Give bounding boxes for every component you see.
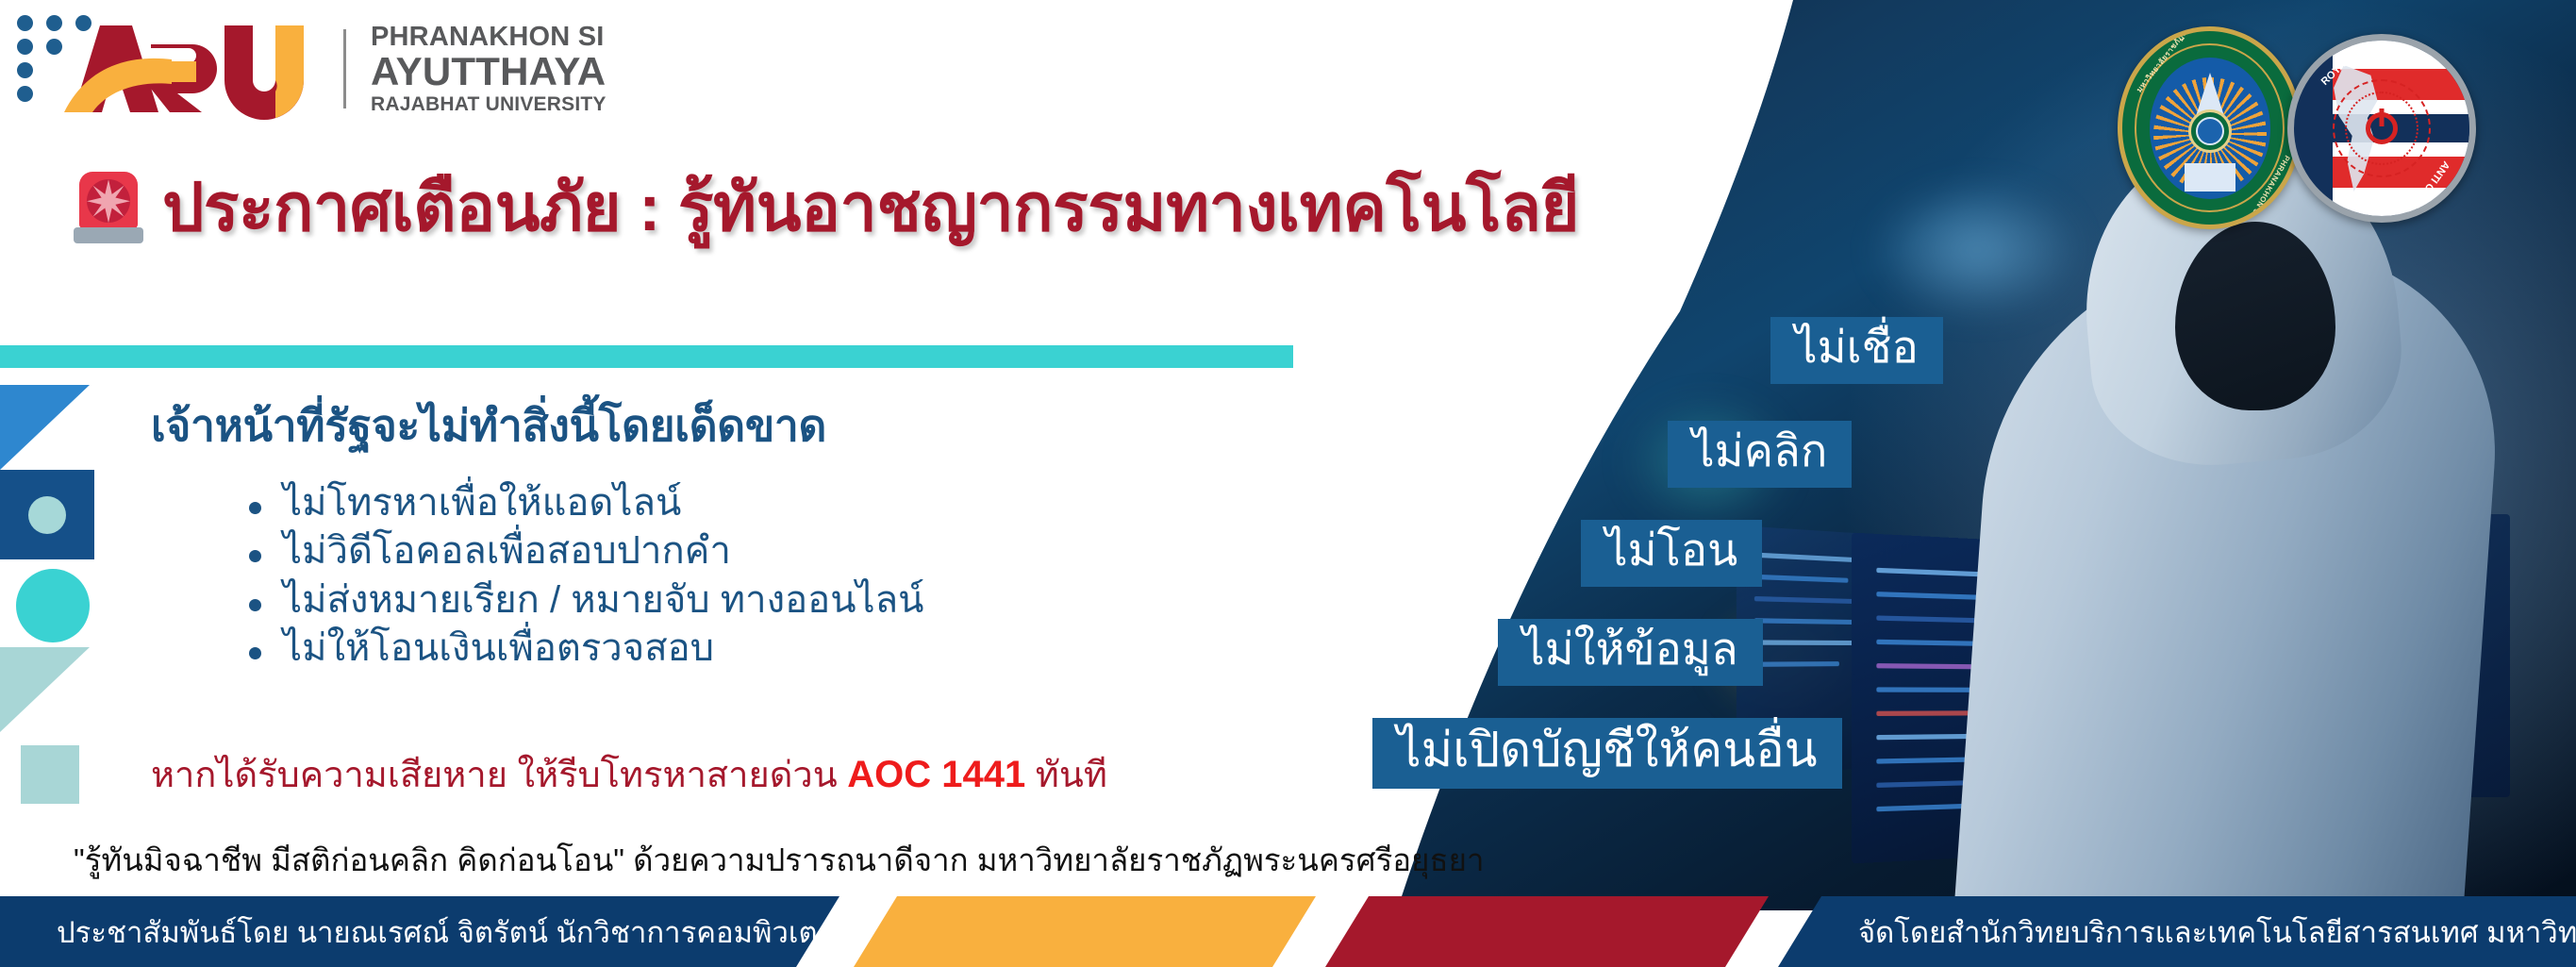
closing-quote: "รู้ทันมิจฉาชีพ มีสติก่อนคลิก คิดก่อนโอน… <box>74 835 1484 885</box>
list-item: ไม่วิดีโอคอลเพื่อสอบปากคำ <box>243 529 924 573</box>
hotline-line: หากได้รับความเสียหาย ให้รีบโทรหาสายด่วน … <box>151 745 1107 803</box>
aru-logo: PHRANAKHON SI AYUTTHAYA RAJABHAT UNIVERS… <box>57 17 607 121</box>
page-title: ประกาศเตือนภัย : รู้ทันอาชญากรรมทางเทคโน… <box>162 175 1579 241</box>
triangle-decoration-light <box>0 647 90 732</box>
hotline-prefix: หากได้รับความเสียหาย ให้รีบโทรหาสายด่วน <box>151 756 847 795</box>
list-item: ไม่โทรหาเพื่อให้แอดไลน์ <box>243 481 924 525</box>
warning-bullet-list: ไม่โทรหาเพื่อให้แอดไลน์ ไม่วิดีโอคอลเพื่… <box>243 481 924 675</box>
logo-divider <box>343 29 346 108</box>
warning-tag-5: ไม่เปิดบัญชีให้คนอื่น <box>1372 718 1842 789</box>
brand-line-1: PHRANAKHON SI <box>371 24 607 51</box>
hotline-number: AOC 1441 <box>847 754 1025 795</box>
footer-segment-red <box>1325 896 1769 967</box>
university-seal-ring-text: มหาวิทยาลัยราชภัฏพระนครศรีอยุธยา PHRANAK… <box>2122 31 2297 225</box>
triangle-decoration-blue <box>0 385 90 470</box>
square-decoration-navy <box>0 470 94 559</box>
headline-block: ประกาศเตือนภัย : รู้ทันอาชญากรรมทางเทคโน… <box>74 172 1579 243</box>
police-seal-ring-text: ROYAL THAI POLICE ANTI CYBER SCAM CENTER <box>2294 41 2469 216</box>
warning-tag-2: ไม่คลิก <box>1668 421 1852 488</box>
warning-poster: PHRANAKHON SI AYUTTHAYA RAJABHAT UNIVERS… <box>0 0 2576 967</box>
square-decoration-light <box>21 745 79 804</box>
aru-logomark-icon <box>57 18 340 120</box>
body-subheading: เจ้าหน้าที่รัฐจะไม่ทำสิ่งนี้โดยเด็ดขาด <box>151 392 826 460</box>
footer-bar: ประชาสัมพันธ์โดย นายณเรศณ์ จิตรัตน์ นักว… <box>0 896 2576 967</box>
footer-segment-orange <box>854 896 1316 967</box>
university-seal-icon: มหาวิทยาลัยราชภัฏพระนครศรีอยุธยา PHRANAK… <box>2118 26 2302 229</box>
brand-line-3: RAJABHAT UNIVERSITY <box>371 94 607 114</box>
footer-credit-right: จัดโดยสำนักวิทยบริการและเทคโนโลยีสารสนเท… <box>1858 896 2576 967</box>
list-item: ไม่ส่งหมายเรียก / หมายจับ ทางออนไลน์ <box>243 578 924 622</box>
police-siren-icon <box>74 172 143 243</box>
circle-decoration-teal <box>16 569 90 642</box>
teal-accent-bar <box>0 345 1293 368</box>
warning-tag-3: ไม่โอน <box>1581 520 1762 587</box>
hotline-suffix: ทันที <box>1025 756 1107 795</box>
warning-tag-1: ไม่เชื่อ <box>1770 317 1943 384</box>
photo-glow <box>1869 179 2086 321</box>
warning-tag-4: ไม่ให้ข้อมูล <box>1498 619 1763 686</box>
footer-credit-left: ประชาสัมพันธ์โดย นายณเรศณ์ จิตรัตน์ นักว… <box>57 896 851 967</box>
royal-thai-police-seal-icon: ROYAL THAI POLICE ANTI CYBER SCAM CENTER <box>2287 34 2476 223</box>
list-item: ไม่ให้โอนเงินเพื่อตรวจสอบ <box>243 626 924 670</box>
brand-line-2: AYUTTHAYA <box>371 52 607 92</box>
